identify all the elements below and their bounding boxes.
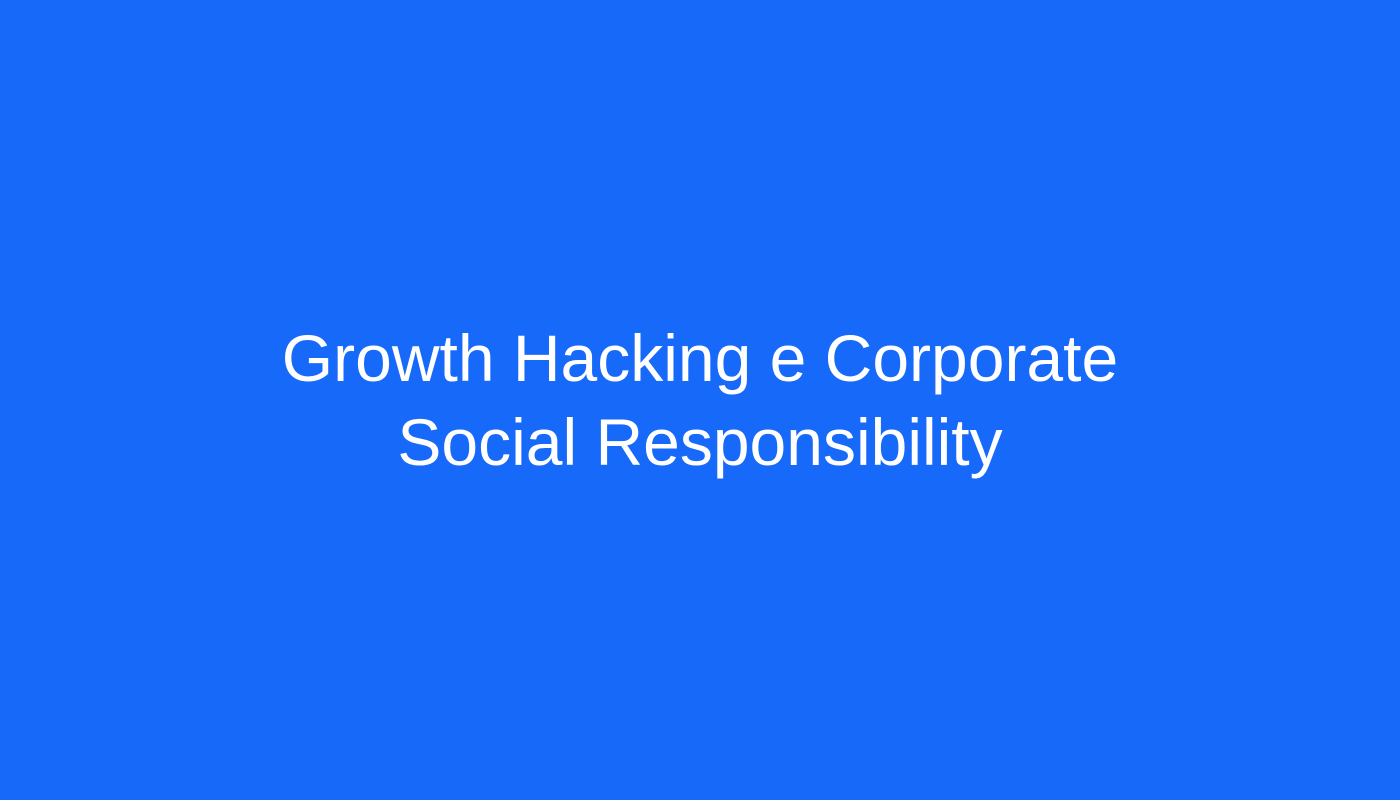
hero-banner: Growth Hacking e Corporate Social Respon… xyxy=(0,0,1400,800)
page-title: Growth Hacking e Corporate Social Respon… xyxy=(200,316,1200,484)
hero-content: Growth Hacking e Corporate Social Respon… xyxy=(200,316,1200,484)
